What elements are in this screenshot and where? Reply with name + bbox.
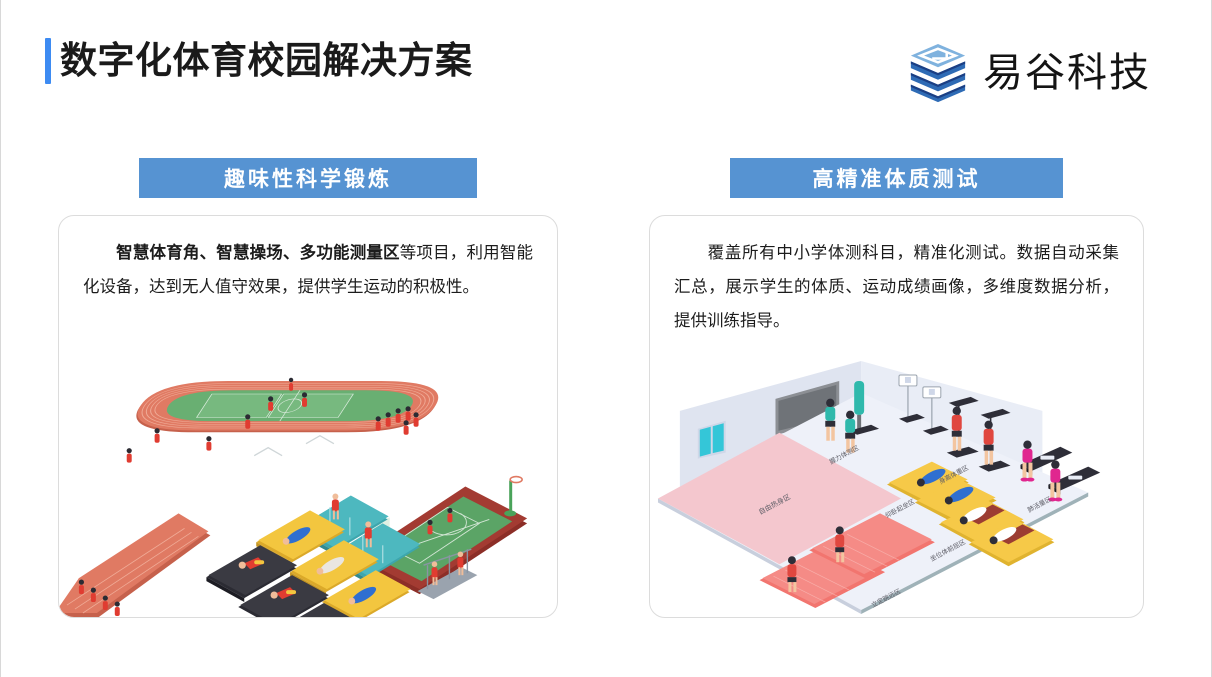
brand-name: 易谷科技 (983, 42, 1151, 104)
section-banner-left: 趣味性科学锻炼 (139, 158, 477, 198)
column-left: 趣味性科学锻炼 智慧体育角、智慧操场、多功能测量区等项目，利用智能化设备，达到无… (58, 158, 558, 618)
illustration-sports-field (59, 367, 557, 617)
card-body-left-bold: 智慧体育角、智慧操场、多功能测量区 (116, 244, 400, 262)
card-body-right: 覆盖所有中小学体测科目，精准化测试。数据自动采集汇总，展示学生的体质、运动成绩画… (650, 216, 1143, 338)
title-accent-bar (45, 38, 51, 84)
illustration-fitness-room: 自由热身区 (650, 352, 1143, 617)
slide-header: 数字化体育校园解决方案 易谷科技 (1, 0, 1212, 130)
section-banner-right: 高精准体质测试 (730, 158, 1063, 198)
column-right: 高精准体质测试 覆盖所有中小学体测科目，精准化测试。数据自动采集汇总，展示学生的… (649, 158, 1144, 618)
goal-posts (254, 436, 334, 456)
content-card-left: 智慧体育角、智慧操场、多功能测量区等项目，利用智能化设备，达到无人值守效果，提供… (58, 215, 558, 618)
card-body-right-rest: 覆盖所有中小学体测科目，精准化测试。数据自动采集汇总，展示学生的体质、运动成绩画… (674, 244, 1119, 330)
slide-root: 数字化体育校园解决方案 易谷科技 趣味性科学锻炼 (0, 0, 1212, 677)
isometric-sports-field-graphic (59, 367, 557, 617)
brand-logo-group: 易谷科技 (907, 42, 1151, 104)
isometric-fitness-testing-room-graphic: 自由热身区 (650, 352, 1143, 617)
page-title: 数字化体育校园解决方案 (60, 38, 473, 84)
page-title-group: 数字化体育校园解决方案 (45, 38, 473, 84)
card-body-left: 智慧体育角、智慧操场、多功能测量区等项目，利用智能化设备，达到无人值守效果，提供… (59, 216, 557, 304)
stacked-layers-cube-logo-icon (907, 42, 969, 104)
content-card-right: 覆盖所有中小学体测科目，精准化测试。数据自动采集汇总，展示学生的体质、运动成绩画… (649, 215, 1144, 618)
